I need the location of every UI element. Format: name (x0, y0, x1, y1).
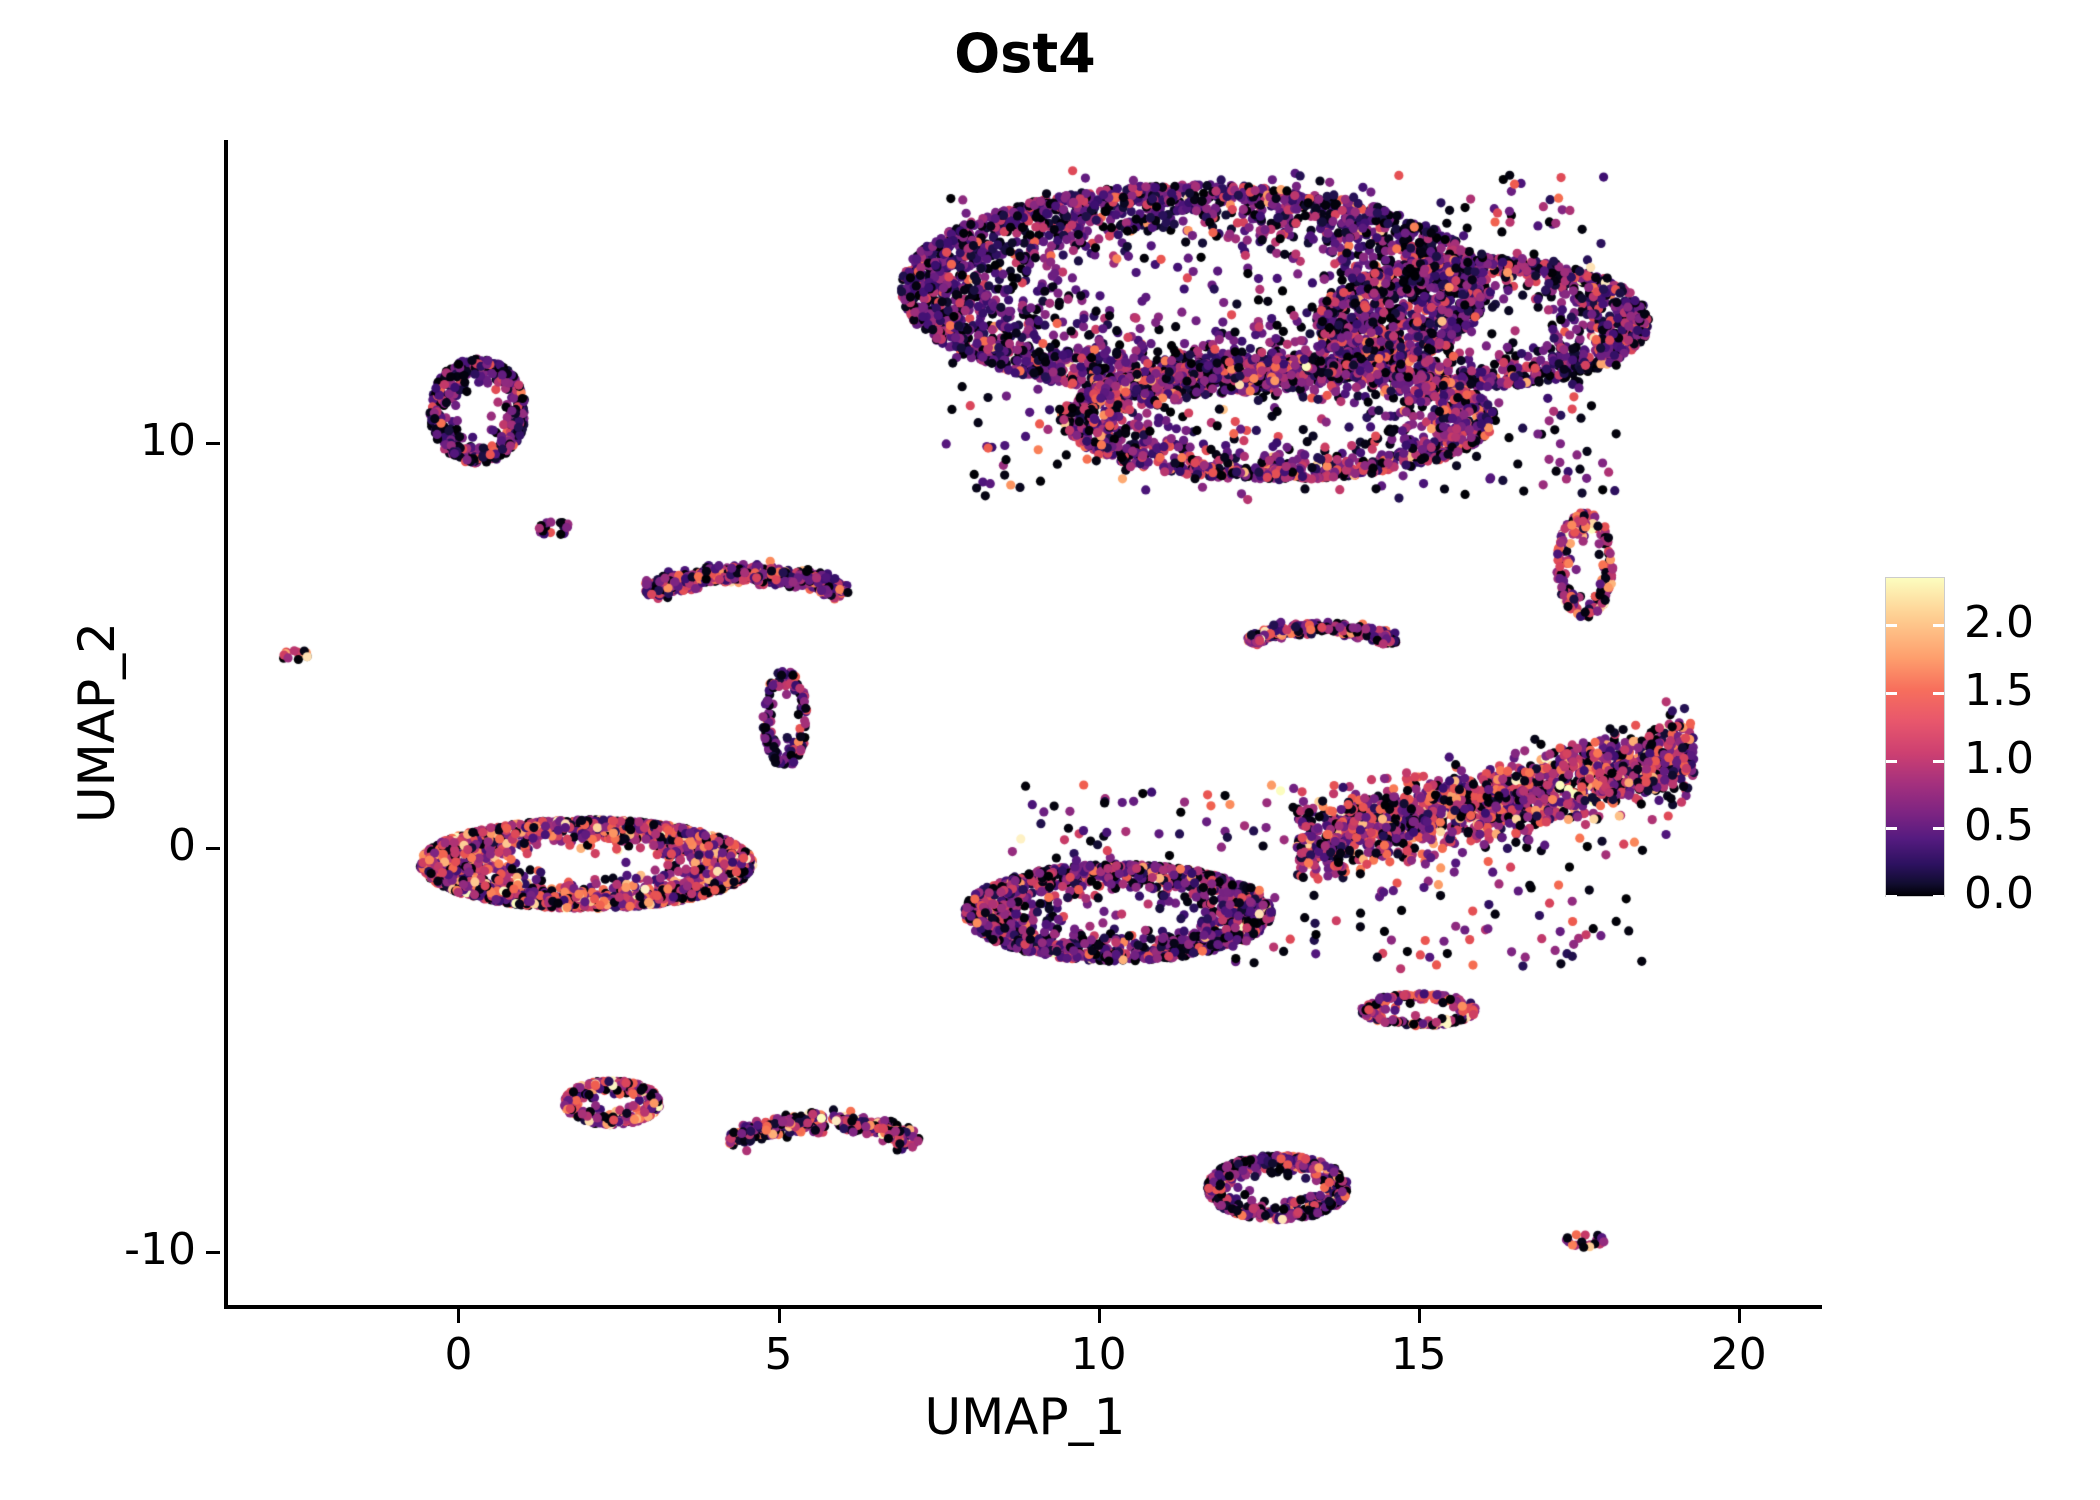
scatter-plot-area[interactable] (228, 140, 1822, 1305)
colorbar-tick-mark (1933, 760, 1944, 763)
colorbar-tick-label: 1.0 (1964, 733, 2034, 784)
colorbar-tick-mark (1886, 692, 1897, 695)
x-tick-label: 10 (1071, 1329, 1127, 1380)
x-tick-label: 15 (1391, 1329, 1447, 1380)
y-tick-label: -10 (124, 1224, 196, 1275)
colorbar-tick-label: 1.5 (1964, 665, 2034, 716)
colorbar-tick-label: 0.0 (1964, 868, 2034, 919)
page-title: Ost4 (228, 22, 1822, 85)
colorbar-tick-mark (1933, 895, 1944, 898)
y-tick-mark (206, 442, 220, 445)
y-axis-label: UMAP_2 (62, 140, 132, 1305)
colorbar-tick-mark (1886, 827, 1897, 830)
colorbar-legend: 0.00.51.01.52.0 (1886, 578, 2086, 898)
plot-axes (228, 140, 1822, 1305)
x-tick-mark (778, 1309, 781, 1323)
y-tick-mark (206, 1251, 220, 1254)
x-tick-mark (1098, 1309, 1101, 1323)
x-axis-label: UMAP_1 (228, 1388, 1822, 1446)
x-tick-mark (1418, 1309, 1421, 1323)
x-tick-mark (1738, 1309, 1741, 1323)
figure-canvas: Ost4 -10010 05101520 UMAP_1 UMAP_2 0.00.… (0, 0, 2100, 1500)
axis-spine-bottom (224, 1305, 1822, 1309)
x-tick-label: 5 (765, 1329, 793, 1380)
y-tick-label: 10 (140, 415, 196, 466)
colorbar-tick-mark (1886, 895, 1897, 898)
x-tick-mark (457, 1309, 460, 1323)
y-tick-label: 0 (168, 820, 196, 871)
colorbar-tick-mark (1886, 760, 1897, 763)
colorbar-tick-mark (1933, 827, 1944, 830)
colorbar-tick-mark (1933, 624, 1944, 627)
x-tick-label: 0 (444, 1329, 472, 1380)
colorbar-tick-mark (1933, 692, 1944, 695)
colorbar-tick-label: 0.5 (1964, 800, 2034, 851)
colorbar-tick-mark (1886, 624, 1897, 627)
y-tick-mark (206, 847, 220, 850)
x-tick-label: 20 (1711, 1329, 1767, 1380)
colorbar-tick-label: 2.0 (1964, 597, 2034, 648)
